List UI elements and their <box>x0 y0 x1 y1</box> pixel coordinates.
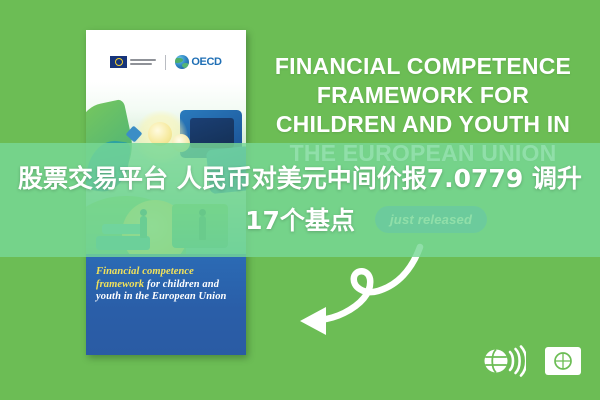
eu-flag-emblem <box>110 56 127 68</box>
logo-divider <box>165 55 166 70</box>
wordmark-line-1 <box>130 59 156 61</box>
headline-line-2: FRAMEWORK FOR <box>258 81 588 110</box>
oecd-logo: OECD <box>175 55 221 69</box>
poster-caption-line-1: Financial competence <box>96 266 236 279</box>
eu-stars-ring <box>115 58 123 66</box>
globe-broadcast-icon <box>482 344 526 378</box>
headline-line-1: FINANCIAL COMPETENCE <box>258 52 588 81</box>
headline-line-3: CHILDREN AND YOUTH IN <box>258 110 588 139</box>
corner-icon-group <box>482 344 582 378</box>
wordmark-line-2 <box>130 63 152 65</box>
poster-caption-block: Financial competence framework for child… <box>86 254 246 355</box>
globe-icon <box>175 55 189 69</box>
poster-logo-row: OECD <box>86 50 246 74</box>
overlay-band <box>0 143 600 257</box>
european-commission-wordmark <box>130 59 156 65</box>
oecd-wordmark: OECD <box>191 57 221 68</box>
screenshot-canvas: OECD Financial competence framewo <box>0 0 600 400</box>
poster-caption-line-2-rest: for children and <box>147 279 219 290</box>
poster-caption-line-3: youth in the European Union <box>96 291 236 304</box>
poster-caption-highlight: framework <box>96 279 147 290</box>
curved-loop-arrow-icon <box>292 243 432 343</box>
european-union-flag-icon <box>110 56 156 68</box>
poster-caption-line-2: framework for children and <box>96 279 236 292</box>
framed-circle-icon <box>544 346 582 376</box>
